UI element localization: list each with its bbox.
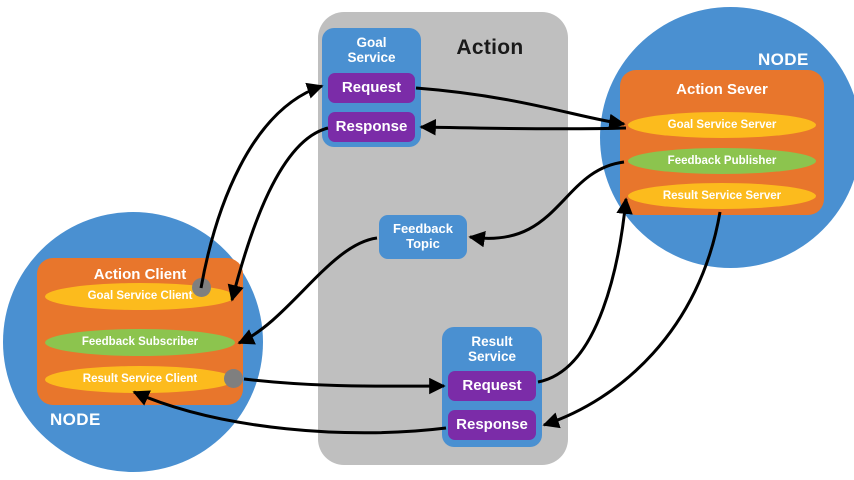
result-service-response-box[interactable]: Response	[448, 410, 536, 440]
capsule-label: Result Service Client	[83, 373, 197, 386]
goal-service-request-box[interactable]: Request	[328, 73, 415, 103]
diagram-canvas: Action NODE Action Client Goal Service C…	[0, 0, 854, 480]
capsule-label: Result Service Server	[663, 190, 781, 203]
result-service-response-label: Response	[456, 417, 528, 434]
capsule-label: Feedback Subscriber	[82, 336, 198, 349]
connector-dot-result-client	[224, 369, 243, 388]
capsule-goal-service-server[interactable]: Goal Service Server	[628, 112, 816, 138]
server-node-label: NODE	[758, 50, 809, 70]
capsule-result-service-server[interactable]: Result Service Server	[628, 183, 816, 209]
feedback-topic-box[interactable]: Feedback Topic	[379, 215, 467, 259]
capsule-label: Goal Service Client	[88, 290, 193, 303]
capsule-feedback-subscriber[interactable]: Feedback Subscriber	[45, 329, 235, 356]
capsule-result-service-client[interactable]: Result Service Client	[45, 366, 235, 393]
arrow-response-to-goal-client	[232, 128, 328, 300]
result-service-request-label: Request	[462, 378, 521, 395]
goal-service-title: Goal Service	[322, 31, 421, 69]
result-service-title: Result Service	[442, 330, 542, 368]
capsule-label: Goal Service Server	[668, 119, 777, 132]
goal-service-title-line1: Goal	[356, 35, 386, 50]
capsule-label: Feedback Publisher	[668, 155, 777, 168]
result-service-title-line1: Result	[471, 334, 512, 349]
goal-service-response-label: Response	[336, 119, 408, 136]
feedback-topic-line1: Feedback	[393, 222, 453, 237]
result-service-request-box[interactable]: Request	[448, 371, 536, 401]
connector-dot-goal-client	[192, 278, 211, 297]
goal-service-title-line2: Service	[347, 50, 395, 65]
action-client-title: Action Client	[37, 265, 243, 285]
capsule-feedback-publisher[interactable]: Feedback Publisher	[628, 148, 816, 174]
goal-service-response-box[interactable]: Response	[328, 112, 415, 142]
action-container-title: Action	[430, 33, 550, 63]
feedback-topic-line2: Topic	[406, 237, 440, 252]
result-service-title-line2: Service	[468, 349, 516, 364]
goal-service-request-label: Request	[342, 80, 401, 97]
action-server-title: Action Sever	[620, 80, 824, 100]
client-node-label: NODE	[50, 410, 101, 430]
